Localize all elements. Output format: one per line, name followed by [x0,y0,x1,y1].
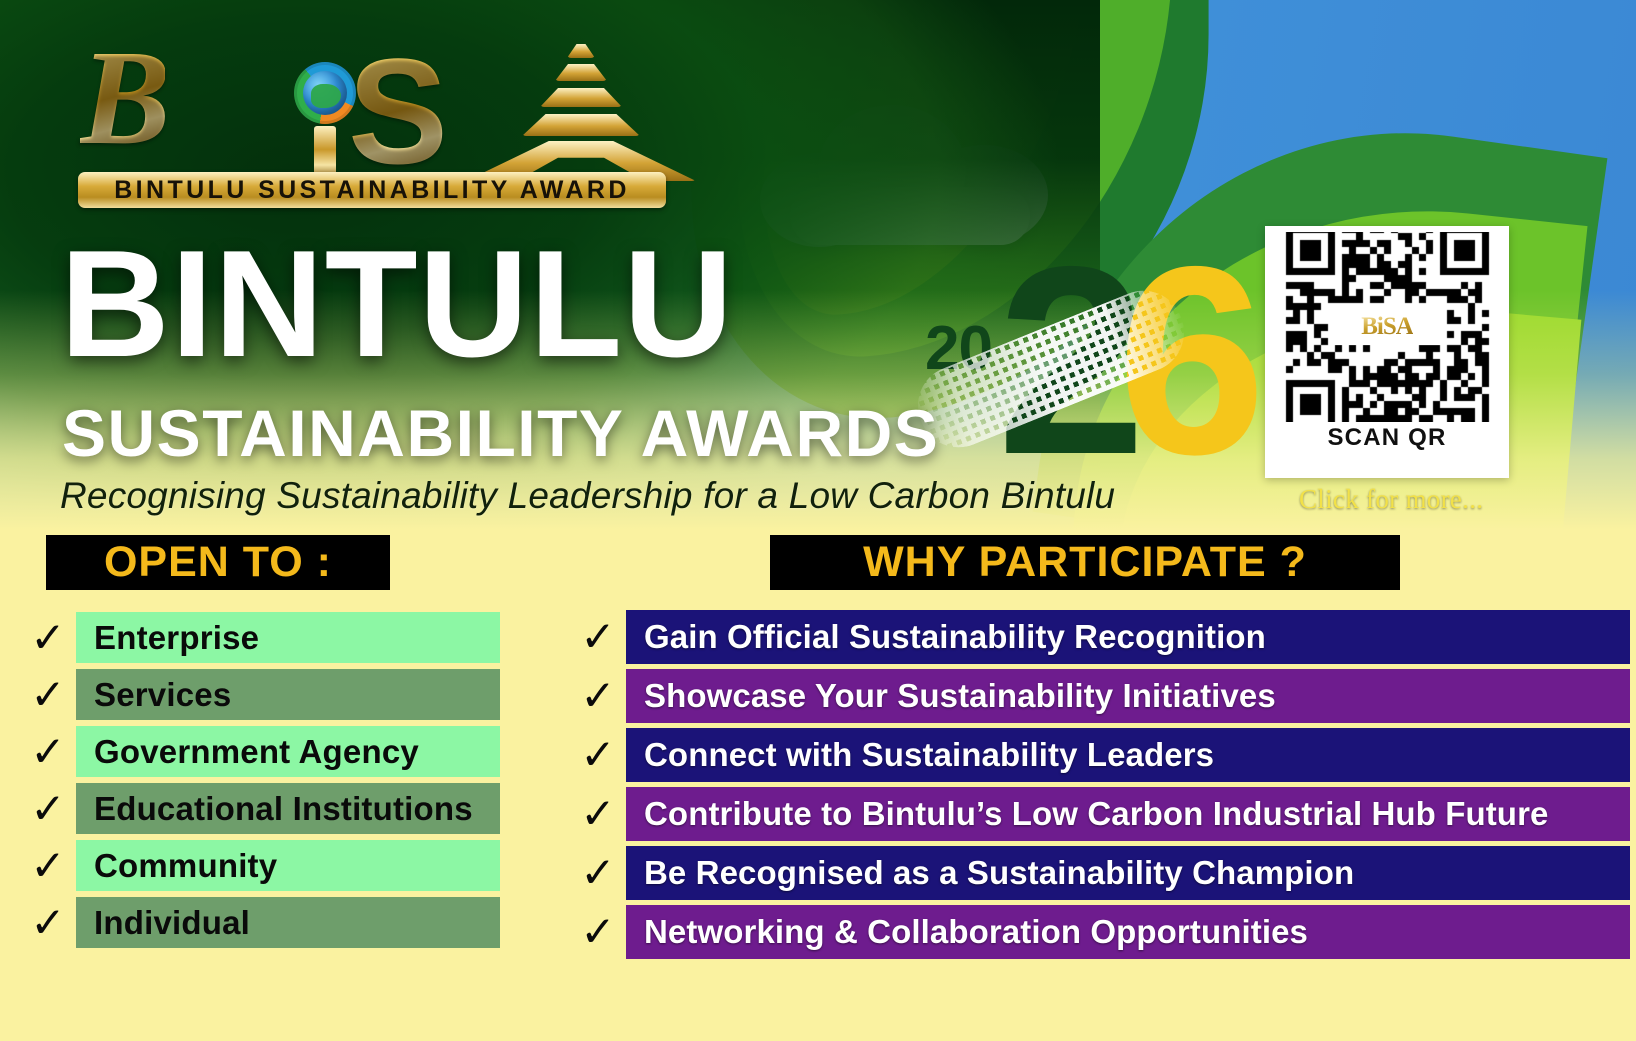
qr-code-icon[interactable]: BiSA [1283,232,1491,422]
open-to-row-bar: Community [76,840,500,891]
why-participate-label: Networking & Collaboration Opportunities [644,913,1308,951]
qr-center-logo: BiSA [1333,309,1441,345]
check-icon: ✓ [20,897,76,948]
list-item: ✓Connect with Sustainability Leaders [570,728,1630,782]
check-icon: ✓ [570,787,626,841]
list-item: ✓Educational Institutions [20,783,500,834]
open-to-label: Educational Institutions [94,790,473,828]
why-participate-row-bar: Contribute to Bintulu’s Low Carbon Indus… [626,787,1630,841]
list-item: ✓Services [20,669,500,720]
open-to-label: Government Agency [94,733,419,771]
list-item: ✓Showcase Your Sustainability Initiative… [570,669,1630,723]
logo-wordmark-text: BINTULU SUSTAINABILITY AWARD [114,176,630,205]
open-to-list: ✓Enterprise✓Services✓Government Agency✓E… [20,612,500,954]
bisa-logo: B S BINTULU SUSTAINABILITY AWARD [76,22,676,217]
why-participate-list: ✓Gain Official Sustainability Recognitio… [570,610,1630,964]
logo-wordmark-bar: BINTULU SUSTAINABILITY AWARD [78,172,666,208]
open-to-label: Enterprise [94,619,259,657]
why-participate-row-bar: Be Recognised as a Sustainability Champi… [626,846,1630,900]
page-subtitle: SUSTAINABILITY AWARDS [62,400,939,466]
list-item: ✓Community [20,840,500,891]
why-participate-label: Gain Official Sustainability Recognition [644,618,1266,656]
list-item: ✓Enterprise [20,612,500,663]
list-item: ✓Be Recognised as a Sustainability Champ… [570,846,1630,900]
qr-click-for-more-link[interactable]: Click for more... [1299,484,1483,515]
why-participate-row-bar: Connect with Sustainability Leaders [626,728,1630,782]
open-to-row-bar: Enterprise [76,612,500,663]
check-icon: ✓ [20,783,76,834]
open-to-row-bar: Services [76,669,500,720]
poster-canvas: B S BINTULU SUSTAINABILITY AWARD BINTULU… [0,0,1636,1041]
why-participate-label: Showcase Your Sustainability Initiatives [644,677,1276,715]
why-participate-label: Be Recognised as a Sustainability Champi… [644,854,1354,892]
open-to-label: Community [94,847,277,885]
list-item: ✓Networking & Collaboration Opportunitie… [570,905,1630,959]
logo-letter-a-tower-icon [466,38,696,178]
open-to-label: Services [94,676,231,714]
year-badge-2026: 2 6 20 [905,240,1225,490]
check-icon: ✓ [20,612,76,663]
check-icon: ✓ [570,905,626,959]
why-participate-label: Contribute to Bintulu’s Low Carbon Indus… [644,795,1548,833]
check-icon: ✓ [570,728,626,782]
qr-code-card[interactable]: BiSA SCAN QR [1265,226,1509,478]
open-to-label: Individual [94,904,250,942]
why-participate-row-bar: Showcase Your Sustainability Initiatives [626,669,1630,723]
open-to-row-bar: Government Agency [76,726,500,777]
open-to-header: OPEN TO : [46,535,390,590]
logo-letter-i [314,126,336,178]
page-title: BINTULU [60,228,734,380]
why-participate-label: Connect with Sustainability Leaders [644,736,1214,774]
logo-letter-b: B [80,30,165,166]
check-icon: ✓ [20,669,76,720]
why-participate-row-bar: Gain Official Sustainability Recognition [626,610,1630,664]
open-to-header-label: OPEN TO : [104,538,332,587]
why-participate-header: WHY PARTICIPATE ? [770,535,1400,590]
open-to-row-bar: Educational Institutions [76,783,500,834]
check-icon: ✓ [20,726,76,777]
why-participate-row-bar: Networking & Collaboration Opportunities [626,905,1630,959]
bisa-logo-mark: B S [76,22,676,172]
list-item: ✓Gain Official Sustainability Recognitio… [570,610,1630,664]
open-to-row-bar: Individual [76,897,500,948]
globe-recycle-icon [294,62,356,124]
check-icon: ✓ [570,610,626,664]
qr-center-logo-text: BiSA [1361,313,1413,341]
check-icon: ✓ [570,846,626,900]
check-icon: ✓ [570,669,626,723]
list-item: ✓Contribute to Bintulu’s Low Carbon Indu… [570,787,1630,841]
list-item: ✓Government Agency [20,726,500,777]
qr-caption: SCAN QR [1327,424,1446,452]
logo-letter-s: S [348,36,448,186]
why-participate-header-label: WHY PARTICIPATE ? [863,538,1307,587]
check-icon: ✓ [20,840,76,891]
list-item: ✓Individual [20,897,500,948]
